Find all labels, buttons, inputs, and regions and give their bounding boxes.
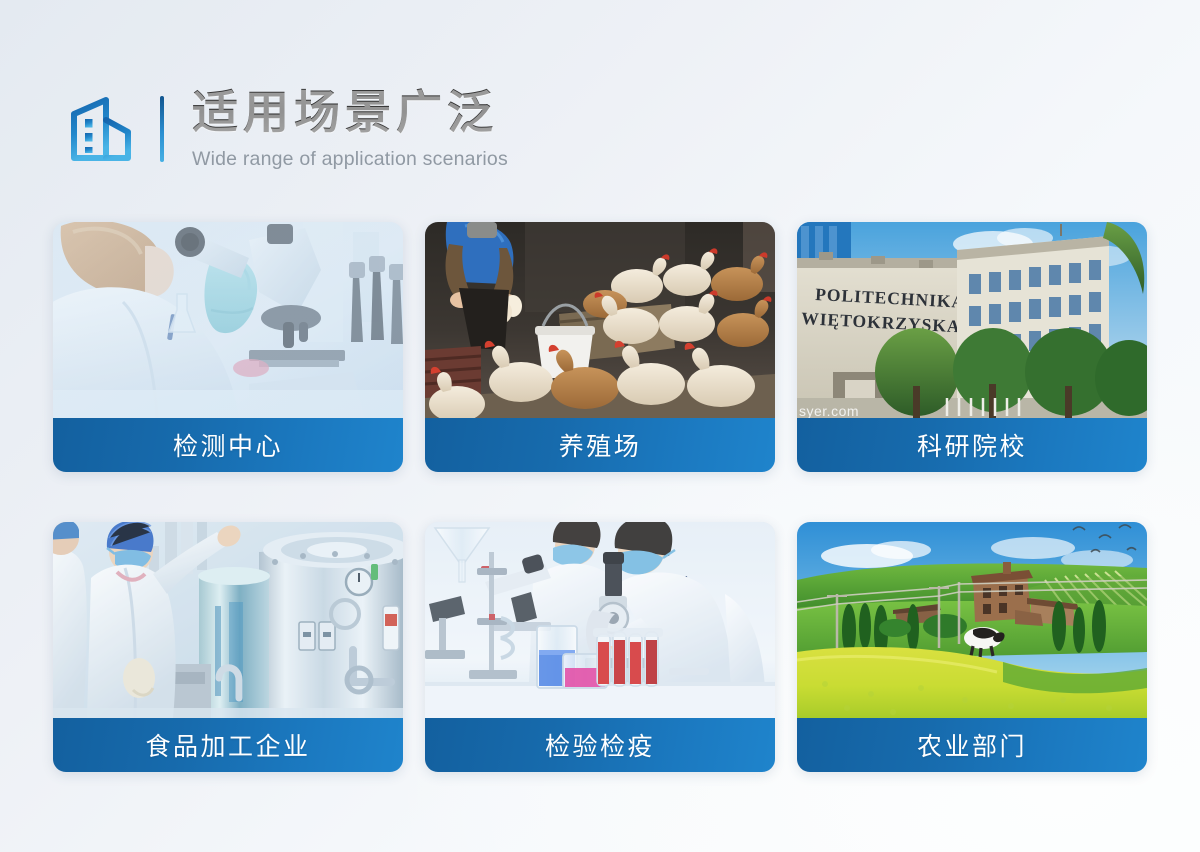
scenario-photo-university-campus: POLITECHNIKA WIĘTOKRZYSKA: [797, 222, 1147, 418]
scenario-photo-laboratory-microscope: [53, 222, 403, 418]
scenario-photo-inspection-quarantine-lab: [425, 522, 775, 718]
scenario-label: 养殖场: [425, 418, 775, 472]
scenario-photo-agricultural-countryside: [797, 522, 1147, 718]
page-header: 适用场景广泛 Wide range of application scenari…: [0, 0, 1200, 200]
scenario-label: 检验检疫: [425, 718, 775, 772]
page-subtitle: Wide range of application scenarios: [192, 148, 508, 171]
building-icon: [62, 92, 136, 166]
page-title: 适用场景广泛: [192, 87, 508, 139]
scenario-photo-poultry-farm: [425, 222, 775, 418]
scenario-card[interactable]: POLITECHNIKA WIĘTOKRZYSKA: [797, 222, 1147, 472]
scenario-label: 农业部门: [797, 718, 1147, 772]
scenario-label: 检测中心: [53, 418, 403, 472]
scenario-label: 科研院校: [797, 418, 1147, 472]
scenario-card[interactable]: 检验检疫: [425, 522, 775, 772]
header-divider: [160, 96, 164, 162]
scenario-label: 食品加工企业: [53, 718, 403, 772]
scenario-photo-food-processing-plant: [53, 522, 403, 718]
header-text-block: 适用场景广泛 Wide range of application scenari…: [192, 87, 508, 171]
scenario-grid: 检测中心: [53, 222, 1147, 772]
scenario-card[interactable]: 检测中心: [53, 222, 403, 472]
scenario-card[interactable]: 农业部门: [797, 522, 1147, 772]
scenario-card[interactable]: 养殖场: [425, 222, 775, 472]
scenario-card[interactable]: 食品加工企业: [53, 522, 403, 772]
